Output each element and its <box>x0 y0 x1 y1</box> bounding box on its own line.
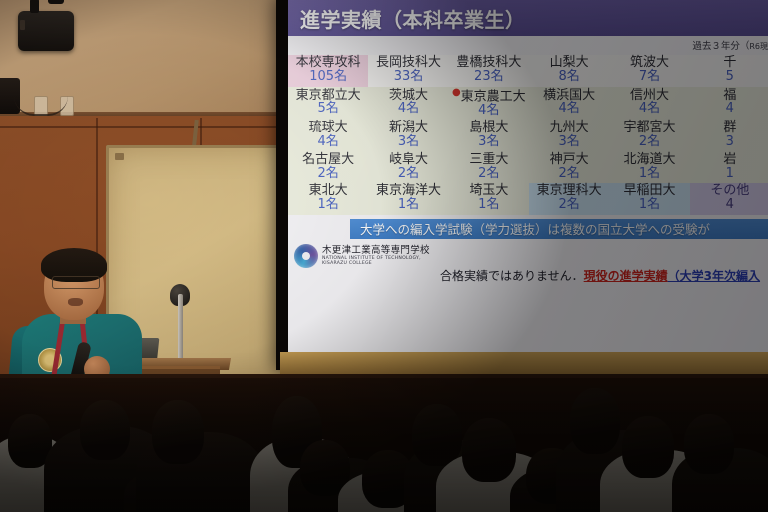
banner-text: 大学への編入学試験（学力選抜）は複数の国立大学への受験が <box>360 219 710 238</box>
screen-bottom-ledge <box>280 352 768 374</box>
student-count: 4 <box>690 102 768 116</box>
table-cell-clipped: 福 4 <box>690 87 768 121</box>
table-cell: 神戸大 2名 <box>529 152 609 184</box>
student-count: 1名 <box>449 198 529 212</box>
table-cell: 茨城大 4名 <box>368 87 448 121</box>
period-note-main: 過去３年分（ <box>692 41 749 52</box>
university-results-table: 本校専攻科 105名 長岡技科大 33名 豊橋技科大 23名 山梨大 <box>288 55 768 215</box>
disclaimer-blue-text: （大学3年次編入 <box>668 269 760 283</box>
audience-head <box>152 400 204 464</box>
school-name-jp: 木更津工業高等専門学校 <box>322 246 430 257</box>
university-name: 群 <box>690 121 768 135</box>
student-count: 8名 <box>529 70 609 84</box>
table-cell: 宇都宮大 2名 <box>609 120 689 152</box>
table-cell-clipped: 岩 1 <box>690 152 768 184</box>
footnote-asterisk-icon: ● <box>452 87 461 98</box>
student-count: 2名 <box>449 167 529 181</box>
university-name: その他 <box>690 184 768 198</box>
table-cell: 新潟大 3名 <box>368 120 448 152</box>
table-cell: 岐阜大 2名 <box>368 152 448 184</box>
table-cell: 埼玉大 1名 <box>449 183 529 215</box>
university-name: 岩 <box>690 153 768 167</box>
kisarazu-swirl-icon <box>294 244 318 268</box>
school-logo: 木更津工業高等専門学校 NATIONAL INSTITUTE OF TECHNO… <box>288 244 444 268</box>
table-cell: 北海道大 1名 <box>609 152 689 184</box>
student-count: 1名 <box>368 198 448 212</box>
table-body: 本校専攻科 105名 長岡技科大 33名 豊橋技科大 23名 山梨大 <box>288 55 768 215</box>
table-cell: 早稲田大 1名 <box>609 183 689 215</box>
slide-note-row: 過去３年分（R6現 <box>288 36 768 54</box>
audience-head <box>80 400 130 460</box>
table-cell: 東北大 1名 <box>288 183 368 215</box>
table-cell: 山梨大 8名 <box>529 55 609 87</box>
university-name: ●東京農工大 <box>449 88 529 104</box>
panel-seam <box>0 126 300 128</box>
student-count: 2名 <box>529 198 609 212</box>
university-name: 北海道大 <box>609 153 689 167</box>
table-cell: 長岡技科大 33名 <box>368 55 448 87</box>
university-name: 名古屋大 <box>288 153 368 167</box>
disclaimer-black-text: 合格実績ではありません． <box>440 269 584 283</box>
table-cell: 信州大 4名 <box>609 87 689 121</box>
student-count: 33名 <box>368 70 448 84</box>
table-cell: 九州大 3名 <box>529 120 609 152</box>
university-name: 豊橋技科大 <box>449 56 529 70</box>
student-count: 1名 <box>609 167 689 181</box>
student-count: 2名 <box>288 167 368 181</box>
audience-head <box>570 388 620 454</box>
slide-title: 進学実績（本科卒業生） <box>300 4 526 33</box>
table-cell: 琉球大 4名 <box>288 120 368 152</box>
student-count: 4名 <box>368 102 448 116</box>
table-cell-clipped: 群 3 <box>690 120 768 152</box>
table-row: 東京都立大 5名 茨城大 4名 ●東京農工大 4名 横浜国大 <box>288 87 768 121</box>
table-cell: 名古屋大 2名 <box>288 152 368 184</box>
student-count: 1名 <box>609 198 689 212</box>
student-count: 4名 <box>529 102 609 116</box>
disclaimer-line: 合格実績ではありません．現役の進学実績（大学3年次編入 <box>440 267 760 284</box>
slide-title-bar: 進学実績（本科卒業生） <box>288 0 768 36</box>
table-row: 東北大 1名 東京海洋大 1名 埼玉大 1名 東京理科大 <box>288 183 768 215</box>
university-name: 本校専攻科 <box>288 56 368 70</box>
university-name: 千 <box>690 56 768 70</box>
student-count: 5名 <box>288 102 368 116</box>
table-cell: 本校専攻科 105名 <box>288 55 368 87</box>
table-cell: ●東京農工大 4名 <box>449 87 529 121</box>
table-row: 名古屋大 2名 岐阜大 2名 三重大 2名 神戸大 <box>288 152 768 184</box>
student-count: 4名 <box>609 102 689 116</box>
eyeglasses <box>52 276 100 289</box>
disclaimer-red-text: 現役の進学実績 <box>584 269 668 283</box>
student-count: 3 <box>690 135 768 149</box>
student-count: 4名 <box>288 135 368 149</box>
student-count: 1名 <box>288 198 368 212</box>
university-name: 長岡技科大 <box>368 56 448 70</box>
table-cell: 島根大 3名 <box>449 120 529 152</box>
university-name: 筑波大 <box>609 56 689 70</box>
student-count: 7名 <box>609 70 689 84</box>
audience-head <box>684 414 734 474</box>
university-name: 神戸大 <box>529 153 609 167</box>
student-count: 2名 <box>529 167 609 181</box>
presentation-slide: 進学実績（本科卒業生） 過去３年分（R6現 本校専攻科 105名 長岡技科大 3… <box>288 0 768 356</box>
screenshot-canvas: 進学実績（本科卒業生） 過去３年分（R6現 本校専攻科 105名 長岡技科大 3… <box>0 0 768 512</box>
table-cell-clipped: 千 5 <box>690 55 768 87</box>
student-count: 2名 <box>368 167 448 181</box>
projection-screen: 進学実績（本科卒業生） 過去３年分（R6現 本校専攻科 105名 長岡技科大 3… <box>288 0 768 356</box>
table-cell: 東京理科大 2名 <box>529 183 609 215</box>
period-note: 過去３年分（R6現 <box>692 38 768 52</box>
university-name-text: 東京農工大 <box>461 89 526 104</box>
table-cell: 筑波大 7名 <box>609 55 689 87</box>
table-cell: 東京都立大 5名 <box>288 87 368 121</box>
student-count: 5 <box>690 70 768 84</box>
ceiling-projector <box>18 11 74 51</box>
student-count: 3名 <box>368 135 448 149</box>
table-cell: 横浜国大 4名 <box>529 87 609 121</box>
student-count: 1 <box>690 167 768 181</box>
whiteboard-clip <box>115 153 124 160</box>
projector-plate <box>20 20 25 30</box>
university-name: 山梨大 <box>529 56 609 70</box>
student-count: 4名 <box>449 104 529 118</box>
school-name-en-line2: KISARAZU COLLEGE <box>322 261 430 266</box>
audience <box>0 378 768 512</box>
microphone-stand <box>178 294 183 360</box>
student-count: 3名 <box>529 135 609 149</box>
banner-area: 大学への編入学試験（学力選抜）は複数の国立大学への受験が <box>288 219 768 241</box>
student-count: 4 <box>690 198 768 212</box>
audience-head <box>462 418 516 482</box>
table-row: 琉球大 4名 新潟大 3名 島根大 3名 九州大 <box>288 120 768 152</box>
table-cell: 豊橋技科大 23名 <box>449 55 529 87</box>
student-count: 23名 <box>449 70 529 84</box>
presenter-mouth <box>68 298 83 306</box>
student-count: 2名 <box>609 135 689 149</box>
university-name: 三重大 <box>449 153 529 167</box>
slide-footer: 木更津工業高等専門学校 NATIONAL INSTITUTE OF TECHNO… <box>288 241 768 356</box>
audience-head <box>622 416 674 478</box>
period-note-small: R6現 <box>749 42 768 51</box>
student-count: 3名 <box>449 135 529 149</box>
table-cell-clipped: その他 4 <box>690 183 768 215</box>
table-cell: 東京海洋大 1名 <box>368 183 448 215</box>
table-cell: 三重大 2名 <box>449 152 529 184</box>
transfer-exam-banner: 大学への編入学試験（学力選抜）は複数の国立大学への受験が <box>350 219 768 239</box>
table-row: 本校専攻科 105名 長岡技科大 33名 豊橋技科大 23名 山梨大 <box>288 55 768 87</box>
audience-head <box>412 404 462 466</box>
university-name: 岐阜大 <box>368 153 448 167</box>
school-logo-text: 木更津工業高等専門学校 NATIONAL INSTITUTE OF TECHNO… <box>322 246 430 267</box>
student-count: 105名 <box>288 70 368 84</box>
university-name: 福 <box>690 89 768 103</box>
